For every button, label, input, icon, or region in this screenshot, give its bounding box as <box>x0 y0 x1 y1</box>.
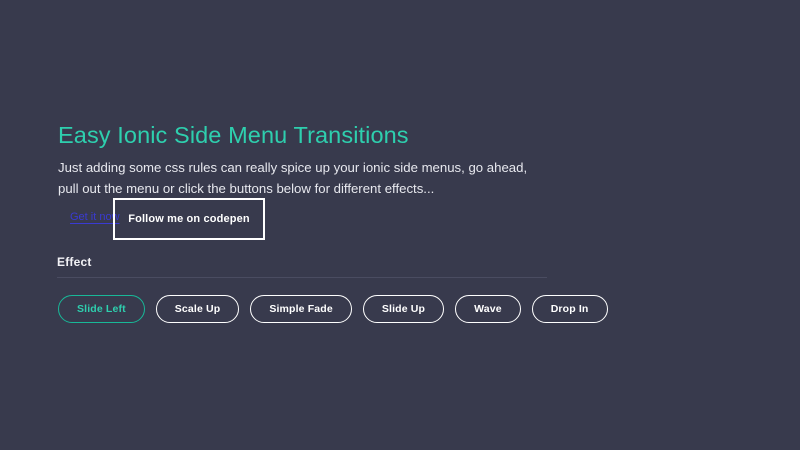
effect-option-slide-left[interactable]: Slide Left <box>58 295 145 323</box>
effect-option-scale-up[interactable]: Scale Up <box>156 295 240 323</box>
effect-options-group: Slide Left Scale Up Simple Fade Slide Up… <box>58 295 608 323</box>
effect-option-slide-up[interactable]: Slide Up <box>363 295 444 323</box>
page-title: Easy Ionic Side Menu Transitions <box>58 121 409 149</box>
effect-option-wave[interactable]: Wave <box>455 295 521 323</box>
section-divider <box>57 277 547 278</box>
follow-me-on-codepen-button[interactable]: Follow me on codepen <box>113 198 265 240</box>
app-root: Easy Ionic Side Menu Transitions Just ad… <box>0 0 800 450</box>
effect-option-simple-fade[interactable]: Simple Fade <box>250 295 352 323</box>
effect-section-label: Effect <box>57 255 92 269</box>
effect-option-drop-in[interactable]: Drop In <box>532 295 608 323</box>
page-description: Just adding some css rules can really sp… <box>58 158 536 199</box>
